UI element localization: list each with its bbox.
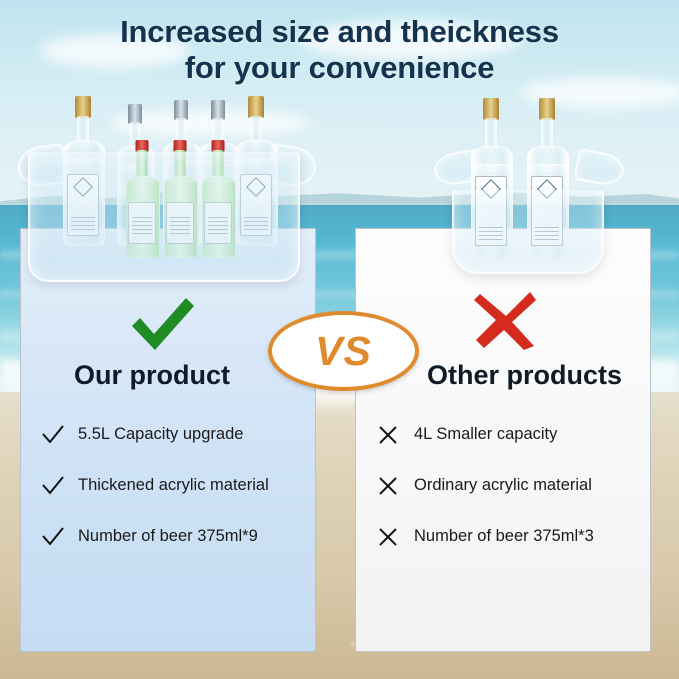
list-item: Number of beer 375ml*9 <box>42 526 298 548</box>
list-item: 5.5L Capacity upgrade <box>42 424 298 446</box>
headline-line-2: for your convenience <box>0 50 679 86</box>
feature-text: Number of beer 375ml*9 <box>78 526 258 547</box>
feature-text: 4L Smaller capacity <box>414 424 557 445</box>
list-item: Ordinary acrylic material <box>378 475 634 497</box>
vs-label: VS <box>315 331 372 372</box>
other-products-title: Other products <box>427 360 622 391</box>
feature-text: Number of beer 375ml*3 <box>414 526 594 547</box>
list-item: Thickened acrylic material <box>42 475 298 497</box>
green-check-icon <box>128 296 198 352</box>
feature-text: Thickened acrylic material <box>78 475 269 496</box>
vs-badge: VS <box>268 311 419 391</box>
comparison-infographic: Increased size and theickness for your c… <box>0 0 679 679</box>
list-item: Number of beer 375ml*3 <box>378 526 634 548</box>
other-products-feature-list: 4L Smaller capacity Ordinary acrylic mat… <box>378 424 634 577</box>
headline-line-1: Increased size and theickness <box>120 14 559 49</box>
list-item: 4L Smaller capacity <box>378 424 634 446</box>
our-product-title: Our product <box>74 360 230 391</box>
small-ice-bucket <box>452 190 604 274</box>
check-icon <box>42 527 68 549</box>
large-ice-bucket <box>28 152 300 282</box>
red-cross-icon <box>474 292 538 350</box>
our-product-feature-list: 5.5L Capacity upgrade Thickened acrylic … <box>42 424 298 577</box>
check-icon <box>42 476 68 498</box>
cross-icon <box>378 425 404 447</box>
cross-icon <box>378 476 404 498</box>
feature-text: Ordinary acrylic material <box>414 475 592 496</box>
cross-icon <box>378 527 404 549</box>
check-icon <box>42 425 68 447</box>
feature-text: 5.5L Capacity upgrade <box>78 424 243 445</box>
page-title: Increased size and theickness for your c… <box>0 14 679 86</box>
